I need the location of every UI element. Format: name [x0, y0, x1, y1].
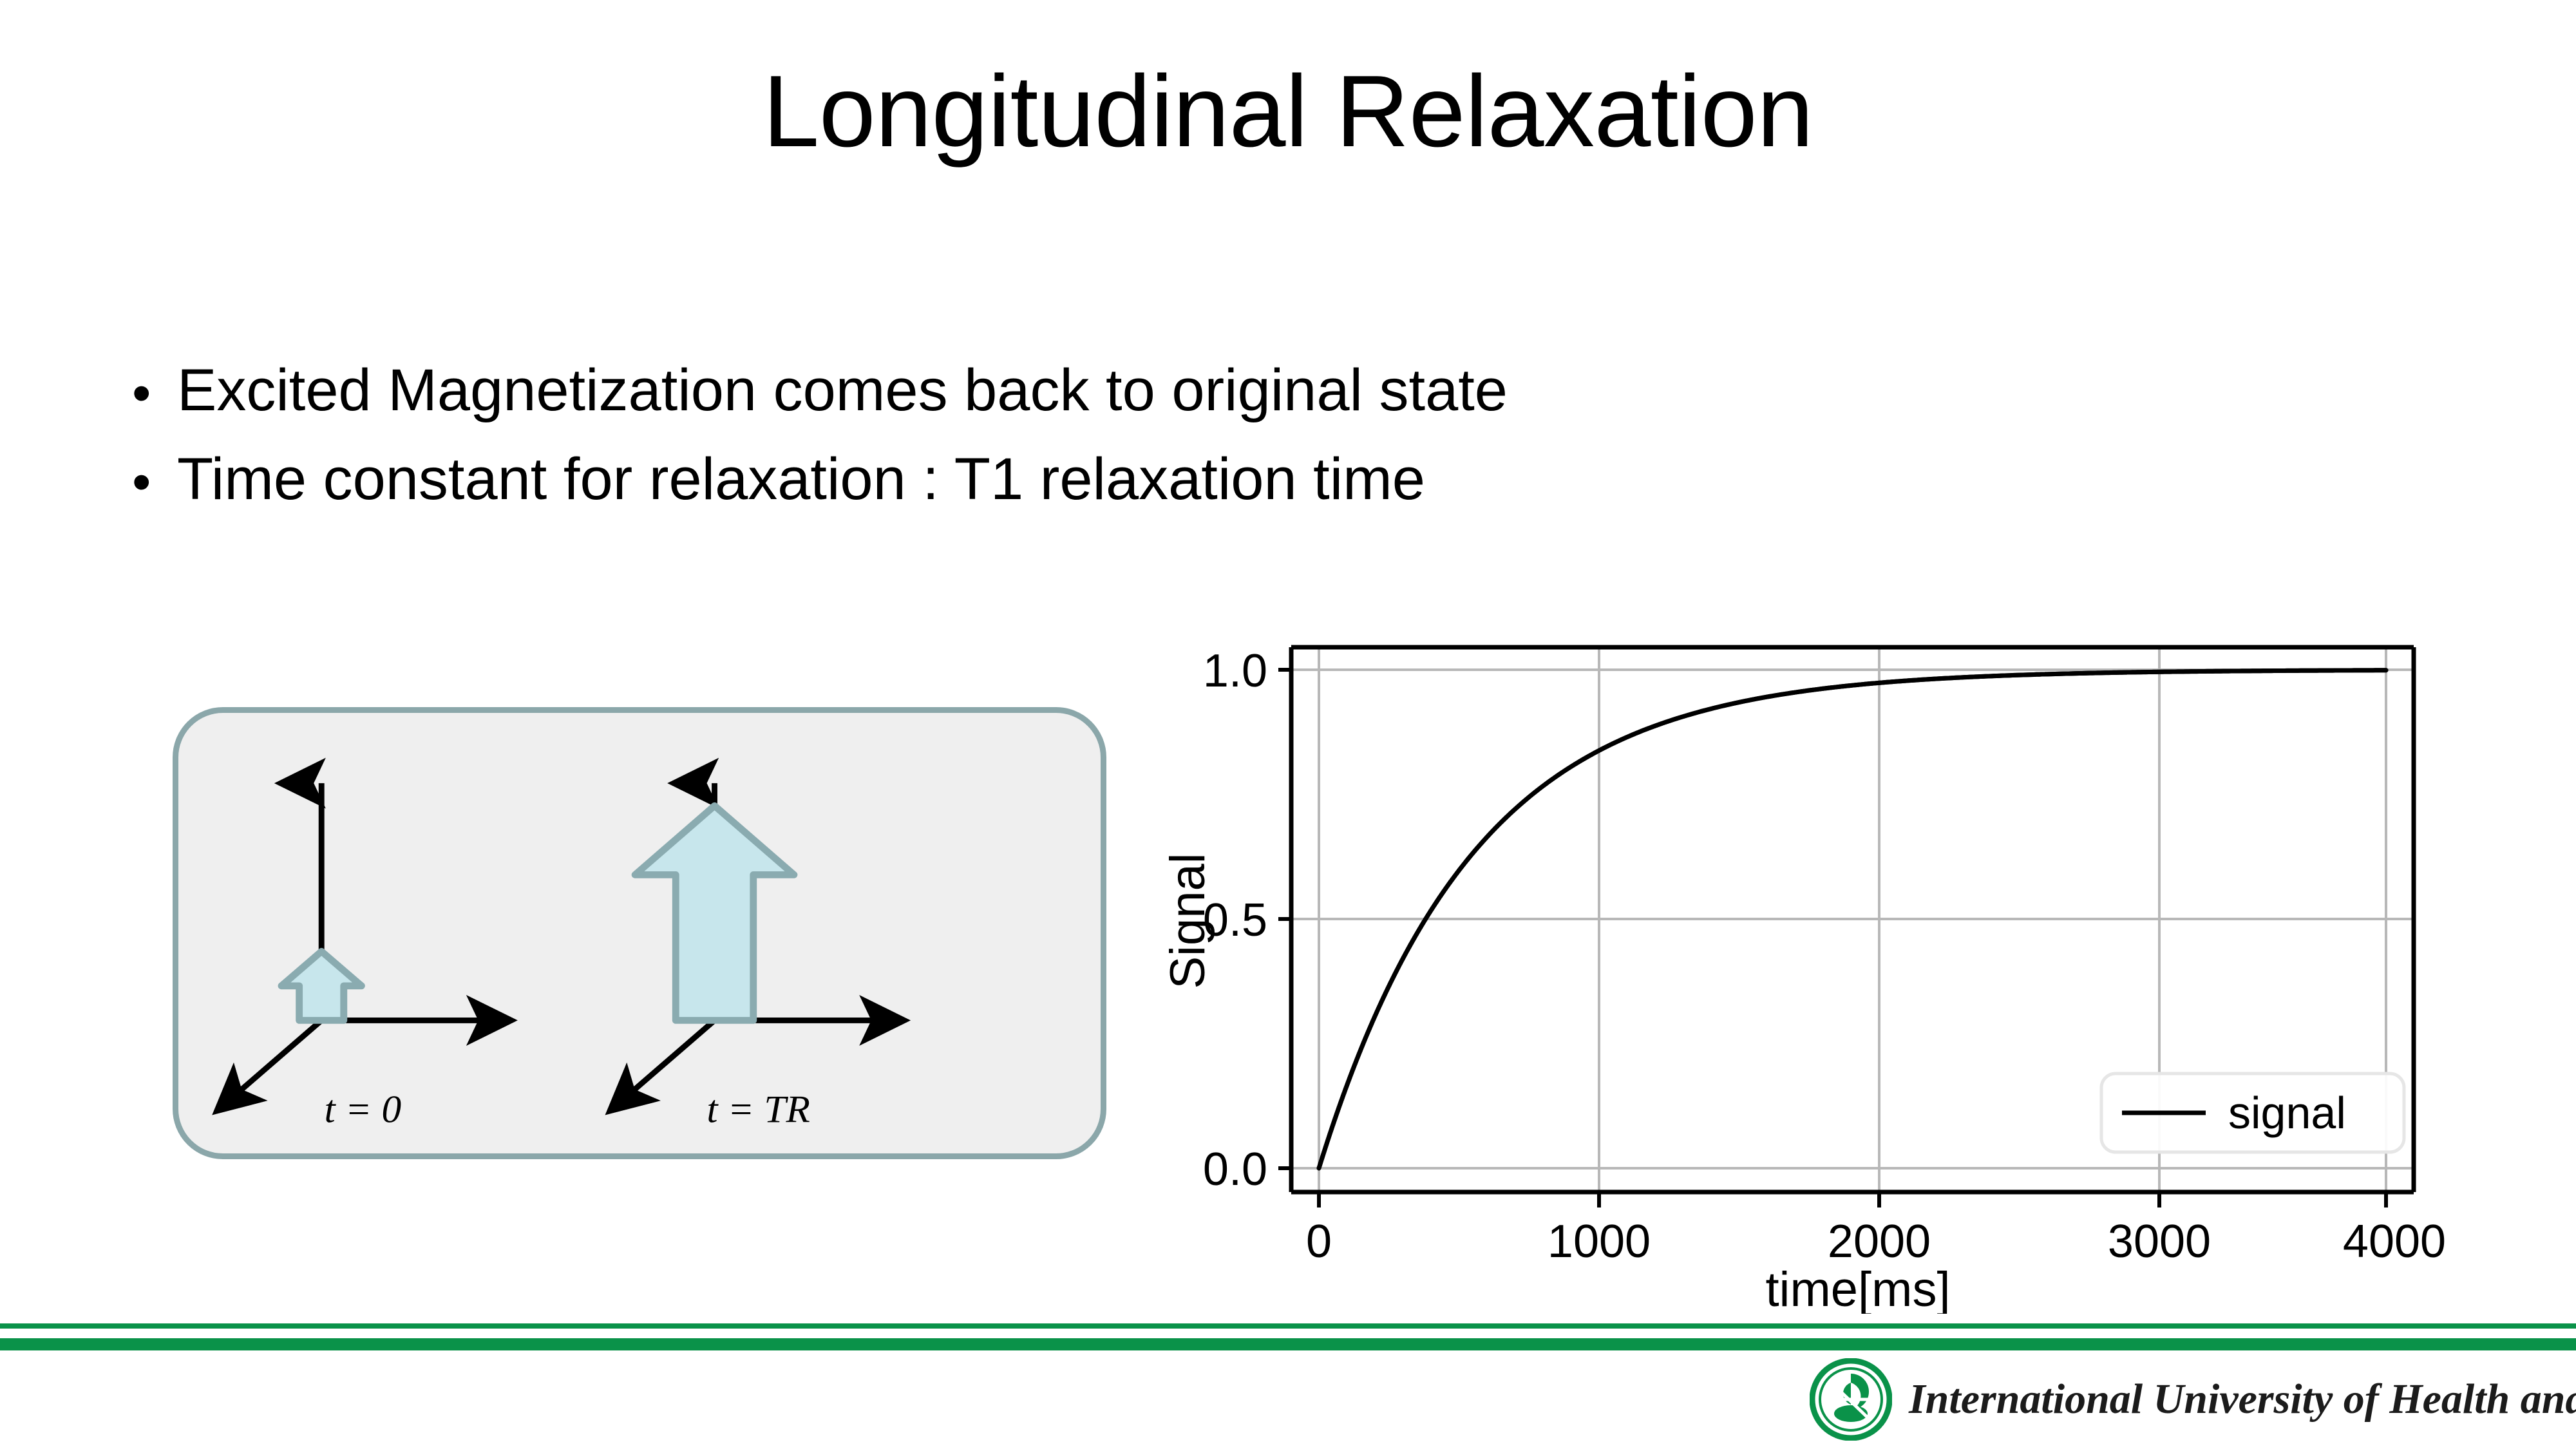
x-tick-label: 3000	[2108, 1216, 2211, 1267]
chart-canvas: 1.0 0.5 0.0 0 1000 2000 3000 4000 time[m…	[1133, 618, 2460, 1314]
magnetization-diagram: t = 0 t = TR	[178, 713, 1101, 1153]
university-name: International University of Health and W…	[1909, 1378, 2576, 1421]
x-tick-label: 0	[1306, 1216, 1332, 1267]
university-logo-icon	[1810, 1358, 1892, 1441]
x-axis-label: time[ms]	[1765, 1262, 1950, 1314]
bullet-marker-icon: •	[132, 361, 177, 420]
x-tick-label: 1000	[1548, 1216, 1651, 1267]
signal-recovery-chart: 1.0 0.5 0.0 0 1000 2000 3000 4000 time[m…	[1133, 618, 2460, 1314]
state-label-ttr: t = TR	[706, 1088, 810, 1132]
bullet-list: • Excited Magnetization comes back to or…	[132, 361, 2354, 538]
y-tick-label: 0.0	[1203, 1144, 1267, 1195]
legend-label-signal: signal	[2228, 1088, 2346, 1138]
footer-brand: International University of Health and W…	[1810, 1358, 2576, 1441]
state-label-t0: t = 0	[325, 1088, 402, 1132]
bullet-marker-icon: •	[132, 450, 177, 509]
bullet-text: Excited Magnetization comes back to orig…	[177, 361, 1508, 420]
x-tick-label: 2000	[1828, 1216, 1931, 1267]
y-tick-label: 1.0	[1203, 645, 1267, 697]
magnetization-diagram-panel: t = 0 t = TR	[173, 707, 1106, 1159]
x-tick-labels: 0 1000 2000 3000 4000	[1306, 1216, 2446, 1267]
magnetization-vector-small	[281, 951, 361, 1020]
y-axis	[218, 1020, 321, 1109]
y-axis	[612, 1020, 715, 1109]
y-axis-label: Signal	[1160, 853, 1215, 989]
list-item: • Excited Magnetization comes back to or…	[132, 361, 2354, 420]
state-t0-axes	[218, 783, 509, 1110]
footer-divider-thin	[0, 1323, 2576, 1329]
page-title: Longitudinal Relaxation	[0, 57, 2576, 167]
bullet-text: Time constant for relaxation : T1 relaxa…	[177, 450, 1425, 509]
footer-divider-thick	[0, 1338, 2576, 1350]
x-tick-label: 4000	[2343, 1216, 2446, 1267]
chart-legend[interactable]: signal	[2101, 1074, 2404, 1152]
magnetization-vector-tall	[635, 806, 794, 1020]
list-item: • Time constant for relaxation : T1 rela…	[132, 450, 2354, 509]
